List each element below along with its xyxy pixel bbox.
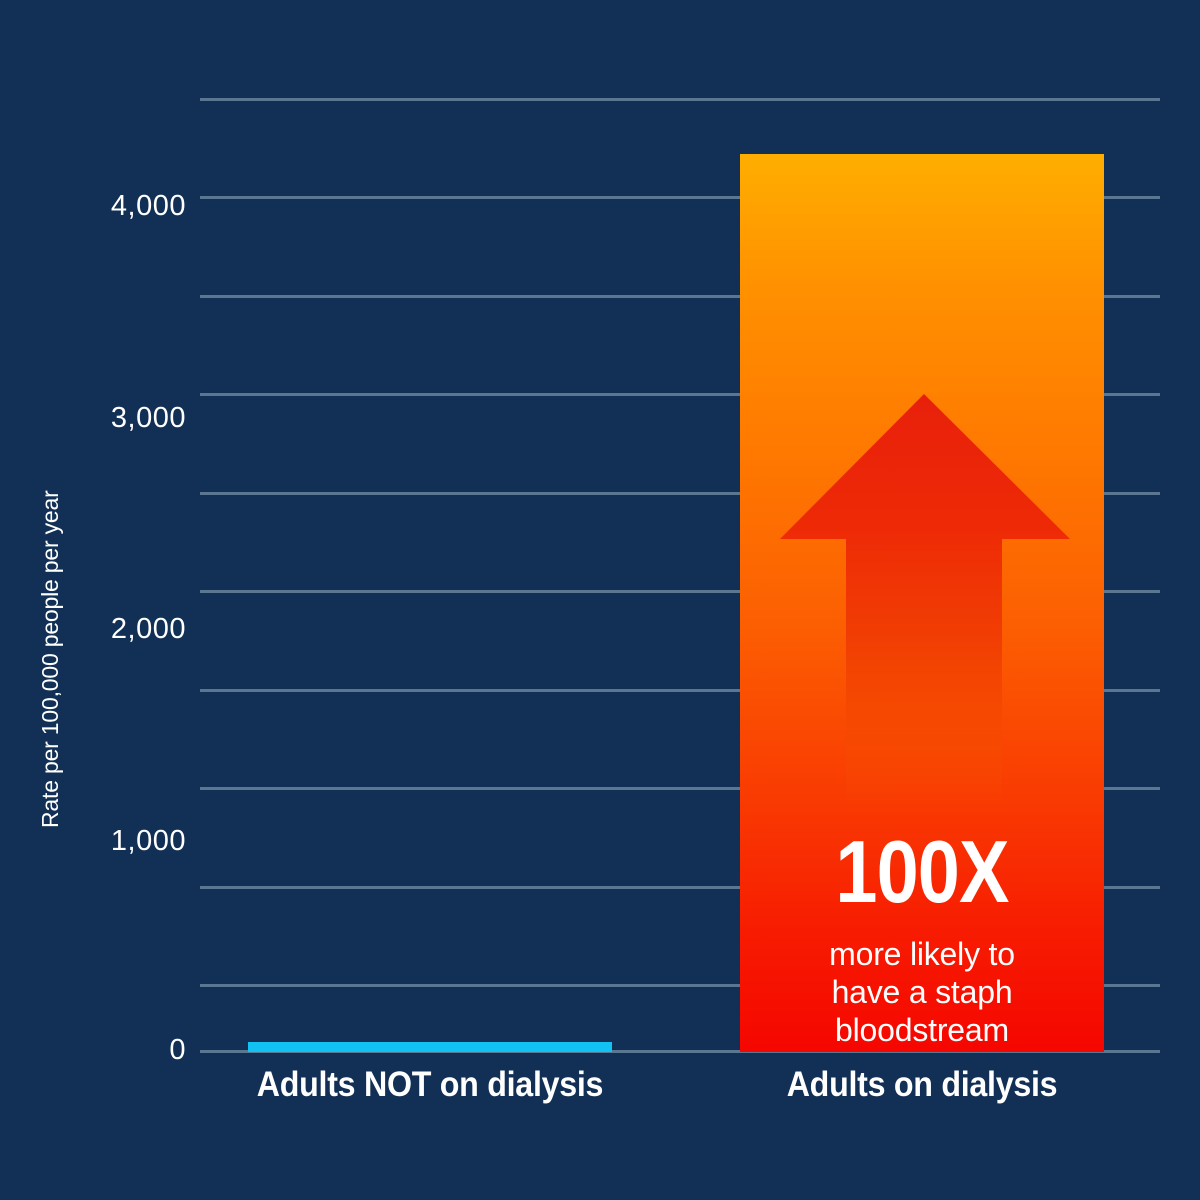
y-tick-2000: 2,000 <box>0 615 186 645</box>
y-tick-1000: 1,000 <box>0 827 186 857</box>
callout-line-1: more likely to <box>740 936 1104 974</box>
y-axis-title: Rate per 100,000 people per year <box>32 268 68 828</box>
y-tick-label-4000: 4,000 <box>26 192 186 221</box>
y-tick-4000: 4,000 <box>0 192 186 222</box>
bar-adults-not-on-dialysis[interactable] <box>248 1042 612 1052</box>
y-tick-3000: 3,000 <box>0 404 186 434</box>
callout-line-3: bloodstream <box>740 1012 1104 1050</box>
callout-line-2: have a staph <box>740 974 1104 1012</box>
callout-headline: 100X <box>765 828 1078 916</box>
callout-subtext: more likely to have a staph bloodstream … <box>740 936 1104 1052</box>
x-label-adults-not-on-dialysis: Adults NOT on dialysis <box>200 1066 660 1105</box>
y-tick-label-1000: 1,000 <box>26 827 186 856</box>
gridline-4500 <box>200 98 1160 101</box>
infographic-bar-chart: Rate per 100,000 people per year 4,000 3… <box>0 0 1200 1200</box>
y-tick-label-0: 0 <box>26 1036 186 1065</box>
callout-line-4: infection <box>740 1049 1104 1052</box>
y-tick-label-2000: 2,000 <box>26 615 186 644</box>
y-tick-0: 0 <box>0 1036 186 1066</box>
y-tick-label-3000: 3,000 <box>26 404 186 433</box>
x-label-adults-on-dialysis: Adults on dialysis <box>692 1066 1152 1105</box>
bar-adults-on-dialysis[interactable]: 100X more likely to have a staph bloodst… <box>740 154 1104 1052</box>
